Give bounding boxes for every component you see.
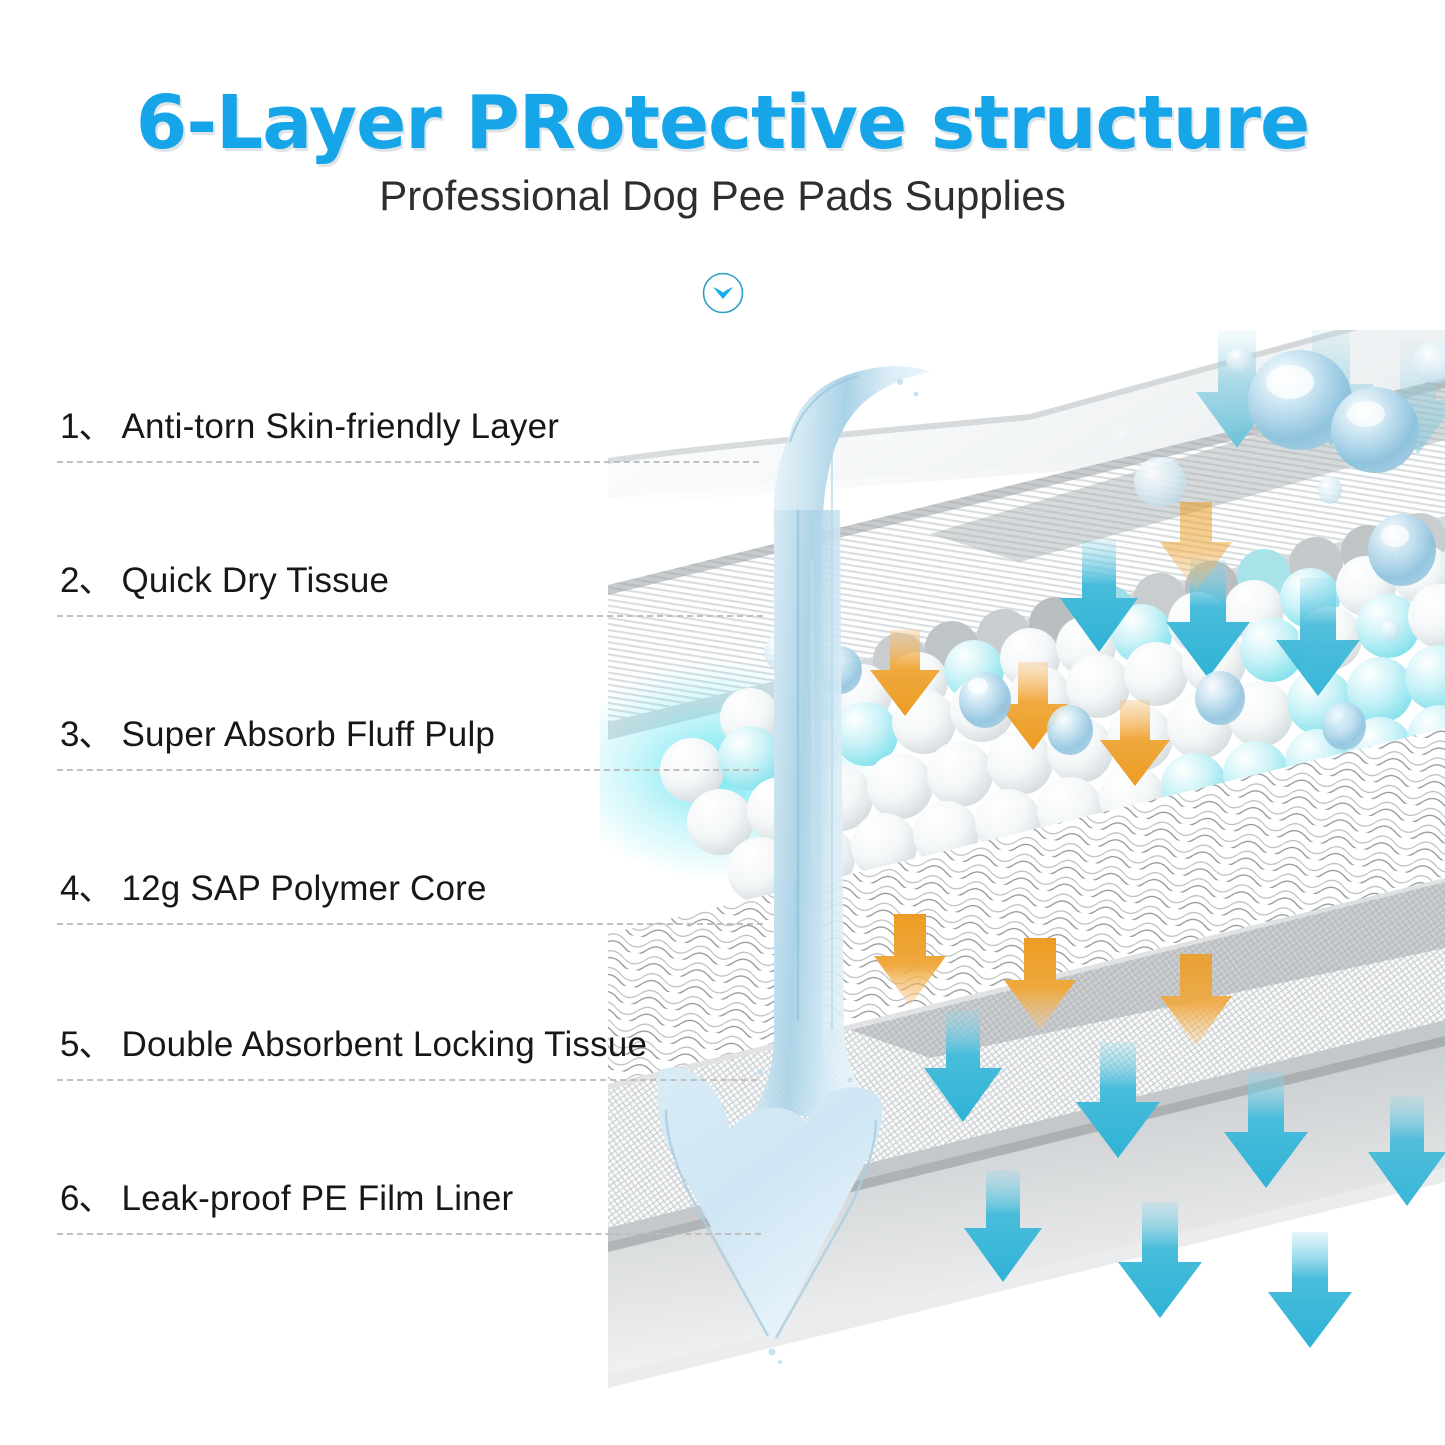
infographic-page: 6-Layer PRotective structure Professiona… — [0, 0, 1445, 1445]
layer-name-2: Quick Dry Tissue — [121, 561, 389, 600]
layer-number-6: 6、 — [60, 1179, 112, 1218]
layer-label-3: 3、Super Absorb Fluff Pulp — [60, 706, 495, 757]
layer-number-4: 4、 — [60, 869, 112, 908]
layer-label-4: 4、12g SAP Polymer Core — [60, 860, 487, 911]
layer-number-2: 2、 — [60, 561, 112, 600]
page-title: 6-Layer PRotective structure — [0, 80, 1445, 166]
layer-name-3: Super Absorb Fluff Pulp — [121, 715, 495, 754]
layer-name-6: Leak-proof PE Film Liner — [121, 1179, 513, 1218]
layer-divider-6 — [57, 1233, 761, 1235]
layer-number-5: 5、 — [60, 1025, 112, 1064]
layer-stack-illustration — [600, 330, 1445, 1445]
layer-name-4: 12g SAP Polymer Core — [121, 869, 486, 908]
layer-divider-5 — [57, 1079, 757, 1081]
layer-label-2: 2、Quick Dry Tissue — [60, 552, 389, 603]
layer-label-6: 6、Leak-proof PE Film Liner — [60, 1170, 513, 1221]
layer-divider-3 — [57, 769, 759, 771]
layer-number-1: 1、 — [60, 407, 112, 446]
page-subtitle: Professional Dog Pee Pads Supplies — [0, 172, 1445, 220]
layer-divider-1 — [57, 461, 759, 463]
layer-divider-2 — [57, 615, 763, 617]
layer-name-1: Anti-torn Skin-friendly Layer — [121, 407, 559, 446]
layer-label-1: 1、Anti-torn Skin-friendly Layer — [60, 398, 559, 449]
layer-label-5: 5、Double Absorbent Locking Tissue — [60, 1016, 647, 1067]
layer-name-5: Double Absorbent Locking Tissue — [121, 1025, 647, 1064]
layer-number-3: 3、 — [60, 715, 112, 754]
layer-divider-4 — [57, 923, 763, 925]
chevron-down-circle-icon — [702, 272, 744, 314]
